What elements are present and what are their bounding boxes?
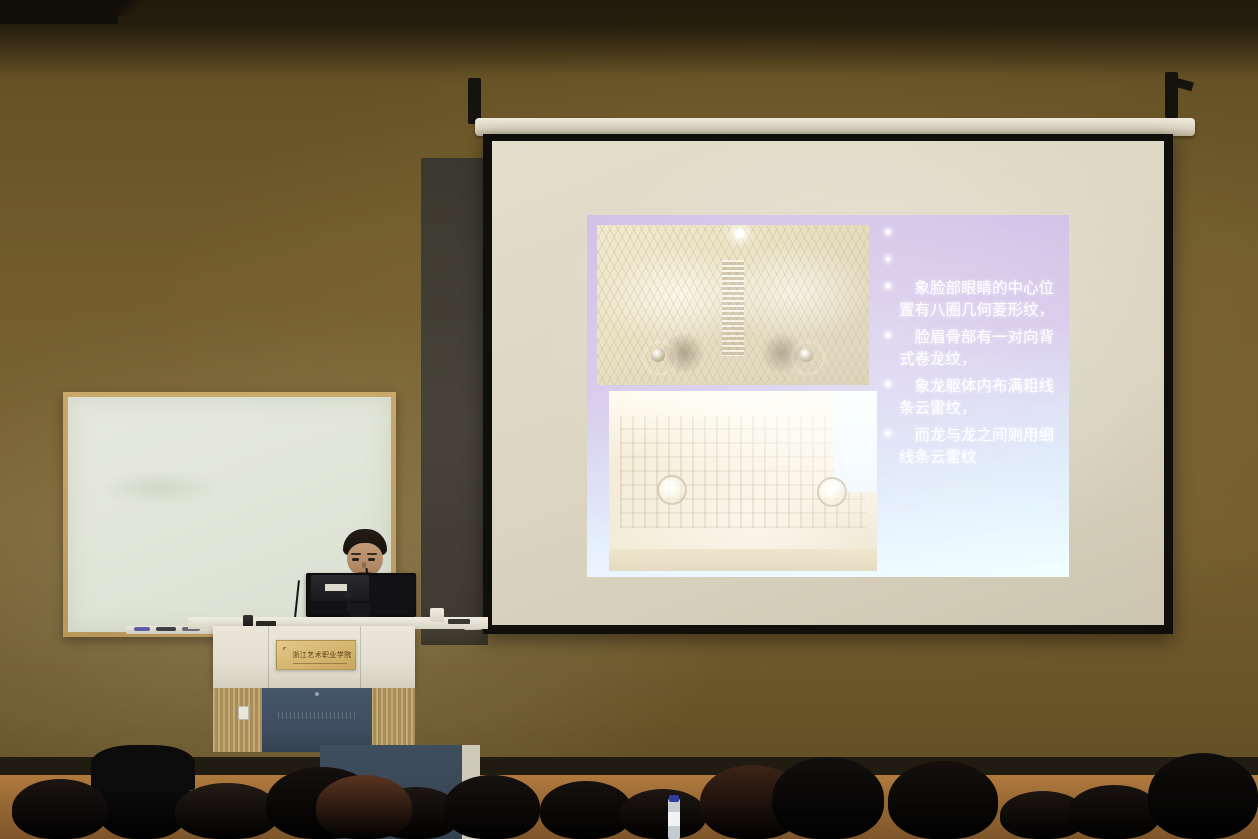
bronze-surface-texture <box>597 225 869 385</box>
lecture-hall-scene: 象脸部眼睛的中心位置有八圈几何菱形纹， 脸眉骨部有一对向背式卷龙纹， 象龙躯体内… <box>0 0 1258 839</box>
photo-background-patch <box>834 391 877 492</box>
presenter-brow-right <box>367 553 377 555</box>
attendee <box>540 781 632 839</box>
black-marker <box>156 627 176 631</box>
slide-bullet-text: 而龙与龙之间则用细线条云雷纹 <box>899 424 1065 468</box>
ceiling-shadow-taper <box>100 0 146 16</box>
bronze-boss-right-icon <box>817 477 847 507</box>
lectern-lower-panel <box>262 688 372 752</box>
presenter-eye-right <box>368 558 375 561</box>
lectern-vent-slots <box>278 712 356 719</box>
screen-bracket-right-icon <box>1165 72 1178 118</box>
slide-bullet-list: 象脸部眼睛的中心位置有八圈几何菱形纹， 脸眉骨部有一对向背式卷龙纹， 象龙躯体内… <box>885 223 1065 573</box>
slide-image-bronze-cloud-thunder <box>609 391 877 571</box>
slide-bullet-item: 脸眉骨部有一对向背式卷龙纹， <box>885 326 1065 370</box>
bullet-icon <box>886 382 890 386</box>
bucket-hat <box>91 745 195 791</box>
laptop-label <box>325 584 347 591</box>
wall-alcove <box>421 158 488 645</box>
screen-surface: 象脸部眼睛的中心位置有八圈几何菱形纹， 脸眉骨部有一对向背式卷龙纹， 象龙躯体内… <box>492 141 1164 625</box>
display-table-edge <box>609 549 877 571</box>
slide-bullet-item <box>885 223 1065 245</box>
attendee <box>772 757 884 839</box>
bullet-icon <box>886 284 890 288</box>
attendee <box>12 779 108 839</box>
slide-bullet-text: 象脸部眼睛的中心位置有八圈几何菱形纹， <box>899 277 1065 321</box>
bronze-boss-left-icon <box>657 475 687 505</box>
elephant-eye-right-icon <box>793 343 823 373</box>
lectern-knob <box>315 692 319 696</box>
desk-object-right-2 <box>448 619 470 624</box>
attendee-brown-hair <box>316 775 412 839</box>
slide-bullet-item: 象龙躯体内布满粗线条云雷纹， <box>885 375 1065 419</box>
microphone-icon[interactable] <box>347 596 350 612</box>
wall-socket <box>238 706 249 720</box>
lectern-side-right <box>371 688 415 752</box>
lectern-side-left <box>213 688 263 752</box>
bullet-icon <box>886 333 890 337</box>
bullet-icon <box>886 431 890 435</box>
presenter-nose <box>362 562 366 568</box>
projector-hotspot <box>735 229 744 238</box>
attendee-short-hair <box>1148 753 1258 839</box>
attendee-ponytail <box>888 761 998 839</box>
water-bottle-label <box>668 812 680 826</box>
monitor-stand <box>350 603 370 617</box>
lectern-plaque: 浙江艺术职业学院 <box>276 640 356 670</box>
presenter-eye-left <box>352 558 359 561</box>
slide-bullet-text: 象龙躯体内布满粗线条云雷纹， <box>899 375 1065 419</box>
desk-object-right <box>430 608 444 622</box>
bullet-icon <box>886 230 890 234</box>
lectern-panel-seam <box>360 626 361 688</box>
elephant-eye-left-icon <box>645 343 675 373</box>
blue-marker <box>134 627 150 631</box>
attendee <box>1068 785 1160 839</box>
projected-slide: 象脸部眼睛的中心位置有八圈几何菱形纹， 脸眉骨部有一对向背式卷龙纹， 象龙躯体内… <box>587 215 1069 577</box>
projection-screen: 象脸部眼睛的中心位置有八圈几何菱形纹， 脸眉骨部有一对向背式卷龙纹， 象龙躯体内… <box>483 134 1173 634</box>
slide-bullet-item: 象脸部眼睛的中心位置有八圈几何菱形纹， <box>885 277 1065 321</box>
lectern-panel-seam <box>268 626 269 688</box>
slide-image-bronze-elephant-mask <box>597 225 869 385</box>
slide-bullet-item: 而龙与龙之间则用细线条云雷纹 <box>885 424 1065 468</box>
slide-bullet-text: 脸眉骨部有一对向背式卷龙纹， <box>899 326 1065 370</box>
slide-bullet-item <box>885 250 1065 272</box>
plaque-underline <box>293 663 347 664</box>
lectern-plaque-text: 浙江艺术职业学院 <box>292 650 351 660</box>
bullet-icon <box>886 257 890 261</box>
attendee <box>620 789 706 839</box>
attendee <box>444 775 540 839</box>
water-bottle-cap <box>669 795 679 802</box>
attendee <box>175 783 279 839</box>
presenter-brow-left <box>351 553 361 555</box>
